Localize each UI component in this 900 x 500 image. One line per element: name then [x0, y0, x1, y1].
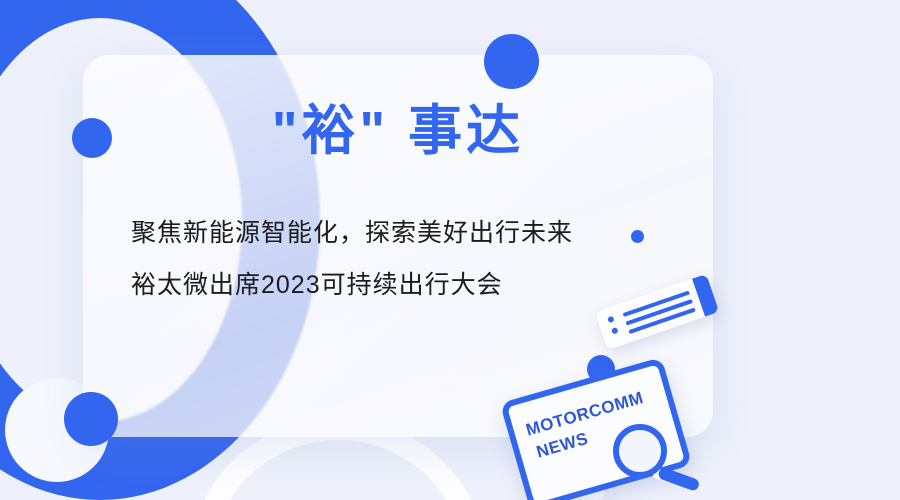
magnifier-lens [613, 424, 667, 478]
subtitle-line-1: 聚焦新能源智能化，探索美好出行未来 [131, 207, 671, 259]
subtitle-line-2: 裕太微出席2023可持续出行大会 [131, 259, 671, 311]
dot-bottom-left-icon [64, 392, 118, 446]
dot-top-icon [484, 34, 539, 89]
magnifier-icon [613, 424, 667, 478]
bullet-dot-icon [631, 230, 644, 243]
list-bullet-icon [611, 327, 619, 335]
page-title: "裕" 事达 [83, 103, 713, 160]
subtitle-block: 聚焦新能源智能化，探索美好出行未来 裕太微出席2023可持续出行大会 [131, 207, 671, 311]
magnifier-handle [657, 466, 701, 492]
list-bullet-icon [607, 316, 615, 324]
news-banner: "裕" 事达 聚焦新能源智能化，探索美好出行未来 裕太微出席2023可持续出行大… [0, 0, 900, 500]
dot-left-icon [72, 118, 112, 158]
list-bullets [607, 316, 620, 341]
list-card-end-cap [692, 274, 719, 317]
